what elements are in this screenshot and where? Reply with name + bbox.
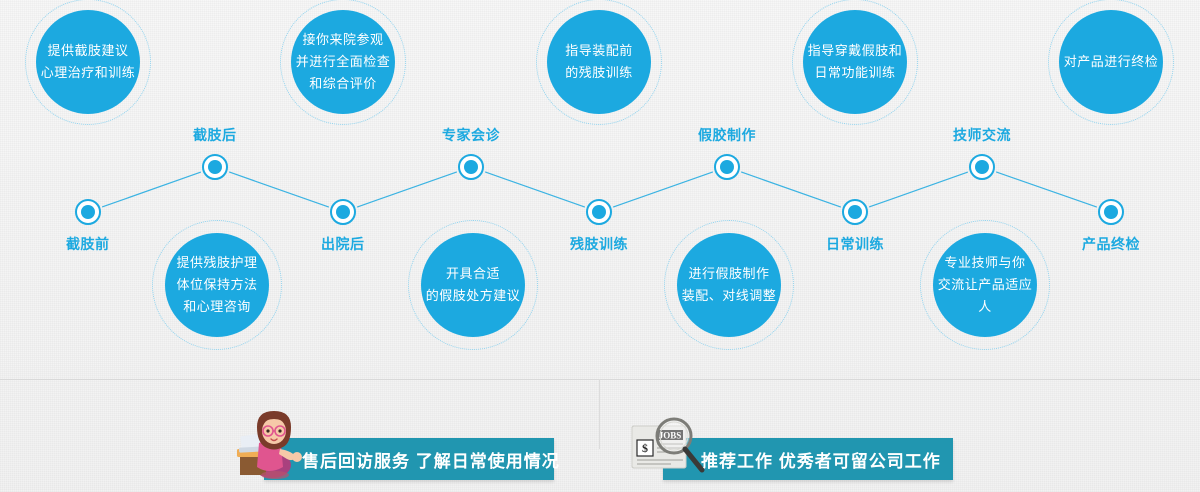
info-bubble-text: 提供截肢建议 心理治疗和训练 [41,40,136,84]
info-bubble-text: 开具合适 的假肢处方建议 [426,263,521,307]
timeline-node[interactable] [714,154,740,180]
timeline-node[interactable] [969,154,995,180]
info-bubble-text: 对产品进行终检 [1064,51,1159,73]
info-bubble[interactable]: 提供残肢护理 体位保持方法 和心理咨询 [152,220,282,350]
promo-banner-text: 售后回访服务 了解日常使用情况 [302,447,560,472]
info-bubble[interactable]: 指导穿戴假肢和 日常功能训练 [792,0,918,125]
timeline-node-label: 残肢训练 [570,234,628,254]
timeline-node[interactable] [1098,199,1124,225]
timeline-node-label: 专家会诊 [442,125,500,145]
promo-banner-text: 推荐工作 优秀者可留公司工作 [701,447,941,472]
info-bubble-text: 专业技师与你 交流让产品适应人 [933,252,1037,318]
info-bubble[interactable]: 对产品进行终检 [1048,0,1174,125]
info-bubble-text: 接你来院参观 并进行全面检查 和综合评价 [296,29,391,95]
info-bubble-text: 提供残肢护理 体位保持方法 和心理咨询 [176,252,257,318]
info-bubble[interactable]: 开具合适 的假肢处方建议 [408,220,538,350]
connector-line [357,172,457,207]
timeline-node[interactable] [330,199,356,225]
info-bubble-fill: 对产品进行终检 [1059,10,1163,114]
connector-line [613,172,713,207]
info-bubble-text: 指导穿戴假肢和 日常功能训练 [808,40,903,84]
info-bubble-text: 进行假肢制作 装配、对线调整 [682,263,777,307]
connector-line [229,172,329,207]
timeline-node[interactable] [458,154,484,180]
timeline-node-label: 截肢后 [193,125,237,145]
info-bubble-fill: 提供残肢护理 体位保持方法 和心理咨询 [165,233,269,337]
timeline-node[interactable] [842,199,868,225]
woman-at-desk-icon [231,405,309,486]
timeline-node[interactable] [586,199,612,225]
info-bubble[interactable]: 接你来院参观 并进行全面检查 和综合评价 [280,0,406,125]
connector-line [102,172,201,207]
timeline-node-label: 出院后 [321,234,365,254]
timeline-node-label: 技师交流 [953,125,1011,145]
jobs-magnifier-icon: $ JOBS [626,410,708,487]
connector-line [741,172,841,207]
info-bubble[interactable]: 进行假肢制作 装配、对线调整 [664,220,794,350]
info-bubble[interactable]: 提供截肢建议 心理治疗和训练 [25,0,151,125]
connector-line [485,172,585,207]
info-bubble-fill: 提供截肢建议 心理治疗和训练 [36,10,140,114]
info-bubble[interactable]: 指导装配前 的残肢训练 [536,0,662,125]
timeline-node[interactable] [202,154,228,180]
vertical-divider [599,379,600,449]
timeline-node-label: 截肢前 [66,234,110,254]
horizontal-divider [0,379,1200,380]
svg-text:$: $ [642,441,648,455]
info-bubble-fill: 专业技师与你 交流让产品适应人 [933,233,1037,337]
info-bubble-fill: 进行假肢制作 装配、对线调整 [677,233,781,337]
info-bubble-fill: 开具合适 的假肢处方建议 [421,233,525,337]
info-bubble-text: 指导装配前 的残肢训练 [565,40,633,84]
info-bubble-fill: 指导穿戴假肢和 日常功能训练 [803,10,907,114]
info-bubble-fill: 接你来院参观 并进行全面检查 和综合评价 [291,10,395,114]
info-bubble[interactable]: 专业技师与你 交流让产品适应人 [920,220,1050,350]
connector-line [869,172,968,207]
timeline-node-label: 日常训练 [826,234,884,254]
timeline-node-label: 产品终检 [1082,234,1140,254]
info-bubble-fill: 指导装配前 的残肢训练 [547,10,651,114]
timeline-node-label: 假胶制作 [698,125,756,145]
connector-line [996,172,1097,207]
timeline-node[interactable] [75,199,101,225]
